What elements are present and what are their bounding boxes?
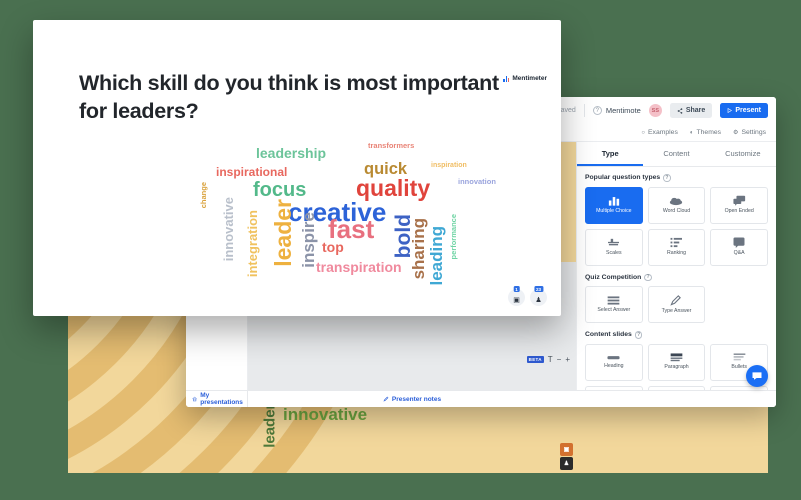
- section-title-label: Popular question types: [585, 174, 660, 181]
- present-label: Present: [735, 107, 761, 114]
- ranking-icon: [670, 237, 683, 248]
- section-title: Content slides?: [585, 331, 768, 339]
- bullets-icon: [733, 353, 746, 362]
- question-type-label: Word Cloud: [663, 209, 690, 214]
- word-cloud-word: performance: [450, 214, 458, 259]
- word-cloud-word: transpiration: [316, 260, 402, 274]
- pill-glyph-icon: ▣: [513, 297, 520, 304]
- question-type-q-a[interactable]: Q&A: [710, 229, 768, 266]
- section-title: Quiz Competition?: [585, 274, 768, 282]
- slide-status-pills: 1▣23♟: [508, 289, 547, 306]
- section-title-label: Quiz Competition: [585, 274, 641, 281]
- word-cloud-word: top: [322, 240, 344, 254]
- bar-chart-logo-icon: [503, 76, 509, 82]
- background-word: innovative: [283, 405, 367, 425]
- question-mark-icon[interactable]: ?: [644, 274, 652, 282]
- word-cloud: leadershiptransformersinspirationinspira…: [178, 142, 498, 307]
- word-cloud-word: inspiration: [431, 162, 467, 169]
- person-badge-icon: ♟: [560, 457, 573, 470]
- word-cloud-word: leading: [428, 226, 445, 286]
- section-title-label: Content slides: [585, 331, 632, 338]
- pencil-icon: [670, 294, 682, 306]
- mentimote-button[interactable]: ? Mentimote: [593, 106, 641, 115]
- present-button[interactable]: Present: [720, 103, 768, 118]
- question-type-label: Ranking: [667, 251, 686, 256]
- gear-icon: ⚙: [733, 129, 738, 136]
- share-label: Share: [686, 107, 705, 114]
- word-cloud-word: change: [200, 182, 208, 208]
- zoom-in-button[interactable]: +: [565, 355, 570, 364]
- my-presentations-label: My presentations: [200, 392, 247, 406]
- presentation-slide: Which skill do you think is most importa…: [33, 20, 561, 316]
- scales-icon: [607, 237, 620, 248]
- presentation-screen-icon[interactable]: 1▣: [508, 289, 525, 306]
- speech-bubbles-icon: [733, 195, 746, 206]
- share-icon: [677, 108, 683, 114]
- word-cloud-word: innovative: [222, 197, 235, 261]
- question-mark-icon[interactable]: ?: [635, 331, 643, 339]
- background-word: leader: [262, 404, 279, 448]
- subbar-item-label: Themes: [696, 129, 721, 136]
- my-presentations-button[interactable]: My presentations: [186, 391, 248, 407]
- editor-bottom-bar: My presentations Presenter notes: [186, 390, 776, 407]
- heading-bar-icon: [607, 355, 620, 361]
- tab-customize[interactable]: Customize: [710, 142, 776, 166]
- bar-chart-icon: [608, 195, 620, 206]
- section-grid: Select AnswerType Answer: [585, 286, 768, 323]
- question-type-label: Paragraph: [664, 365, 688, 370]
- question-type-scales[interactable]: Scales: [585, 229, 643, 266]
- canvas-toolbar[interactable]: BETA T − +: [527, 355, 570, 364]
- question-mark-icon: ?: [593, 106, 602, 115]
- mentimote-label: Mentimote: [606, 106, 641, 115]
- question-type-label: Open Ended: [725, 209, 754, 214]
- pill-count: 23: [534, 286, 543, 292]
- section-title: Popular question types?: [585, 174, 768, 182]
- word-cloud-word: integration: [246, 210, 259, 277]
- section-spacer: [585, 266, 768, 274]
- presenter-notes-label: Presenter notes: [392, 396, 441, 403]
- subbar-item-examples[interactable]: ○Examples: [641, 129, 677, 136]
- question-type-multiple-choice[interactable]: Multiple Choice: [585, 187, 643, 224]
- page-root: innovationsharingleaderinnovativeleading…: [0, 0, 801, 500]
- question-type-panel: TypeContentCustomize Popular question ty…: [576, 142, 776, 390]
- word-cloud-word: leadership: [256, 146, 326, 160]
- mentimeter-brand: Mentimeter: [503, 75, 547, 82]
- chat-glyph-icon: [751, 370, 763, 382]
- pencil-icon: [383, 396, 389, 402]
- section-spacer: [585, 323, 768, 331]
- home-icon: [192, 396, 197, 402]
- question-type-select-answer[interactable]: Select Answer: [585, 286, 643, 323]
- section-grid: HeadingParagraphBulletsImageDocumentVide…: [585, 344, 768, 391]
- share-button[interactable]: Share: [670, 103, 712, 118]
- zoom-out-button[interactable]: −: [557, 355, 562, 364]
- tab-content[interactable]: Content: [643, 142, 709, 166]
- question-mark-icon[interactable]: ?: [663, 174, 671, 182]
- tab-type[interactable]: Type: [577, 142, 643, 166]
- word-cloud-word: transformers: [368, 142, 414, 150]
- play-icon: [727, 108, 732, 113]
- panel-tabs: TypeContentCustomize: [577, 142, 776, 167]
- word-cloud-word: inspirational: [216, 166, 287, 178]
- question-type-ranking[interactable]: Ranking: [648, 229, 706, 266]
- question-type-label: Type Answer: [662, 309, 692, 314]
- divider: [584, 104, 585, 117]
- question-type-paragraph[interactable]: Paragraph: [648, 344, 706, 381]
- participants-person-icon[interactable]: 23♟: [530, 289, 547, 306]
- chat-bubble-icon[interactable]: [746, 365, 768, 387]
- question-type-label: Multiple Choice: [596, 209, 631, 214]
- avatar[interactable]: SS: [649, 104, 662, 117]
- question-type-label: Q&A: [734, 251, 745, 256]
- word-cloud-word: leader: [272, 199, 295, 267]
- presenter-notes-button[interactable]: Presenter notes: [248, 396, 576, 403]
- question-type-label: Bullets: [731, 365, 747, 370]
- question-type-heading[interactable]: Heading: [585, 344, 643, 381]
- lightbulb-icon: ○: [641, 130, 645, 136]
- cloud-icon: [669, 196, 683, 206]
- word-cloud-word: innovation: [458, 178, 496, 186]
- paragraph-icon: [670, 353, 683, 362]
- beta-badge: BETA: [527, 356, 544, 363]
- subbar-item-label: Settings: [741, 129, 766, 136]
- text-tool-icon[interactable]: T: [548, 355, 553, 364]
- qa-icon: [733, 237, 745, 248]
- list-lines-icon: [607, 296, 620, 305]
- question-type-type-answer[interactable]: Type Answer: [648, 286, 706, 323]
- image-badge-icon: ▣: [560, 443, 573, 456]
- pill-glyph-icon: ♟: [535, 297, 541, 304]
- brand-label: Mentimeter: [512, 75, 547, 82]
- question-type-label: Heading: [604, 364, 623, 369]
- panel-sections: Popular question types?Multiple ChoiceWo…: [577, 167, 776, 390]
- subbar-item-label: Examples: [648, 129, 678, 136]
- question-type-label: Select Answer: [597, 308, 630, 313]
- palette-icon: ◐: [690, 130, 694, 136]
- subbar-item-themes[interactable]: ◐Themes: [690, 129, 721, 136]
- question-type-open-ended[interactable]: Open Ended: [710, 187, 768, 224]
- pill-count: 1: [513, 286, 520, 292]
- question-type-label: Scales: [606, 251, 622, 256]
- page-title: Which skill do you think is most importa…: [79, 70, 509, 125]
- question-type-word-cloud[interactable]: Word Cloud: [648, 187, 706, 224]
- subbar-item-settings[interactable]: ⚙Settings: [733, 129, 766, 136]
- word-cloud-word: sharing: [410, 218, 427, 279]
- word-cloud-word: inspire: [300, 212, 317, 268]
- section-grid: Multiple ChoiceWord CloudOpen EndedScale…: [585, 187, 768, 266]
